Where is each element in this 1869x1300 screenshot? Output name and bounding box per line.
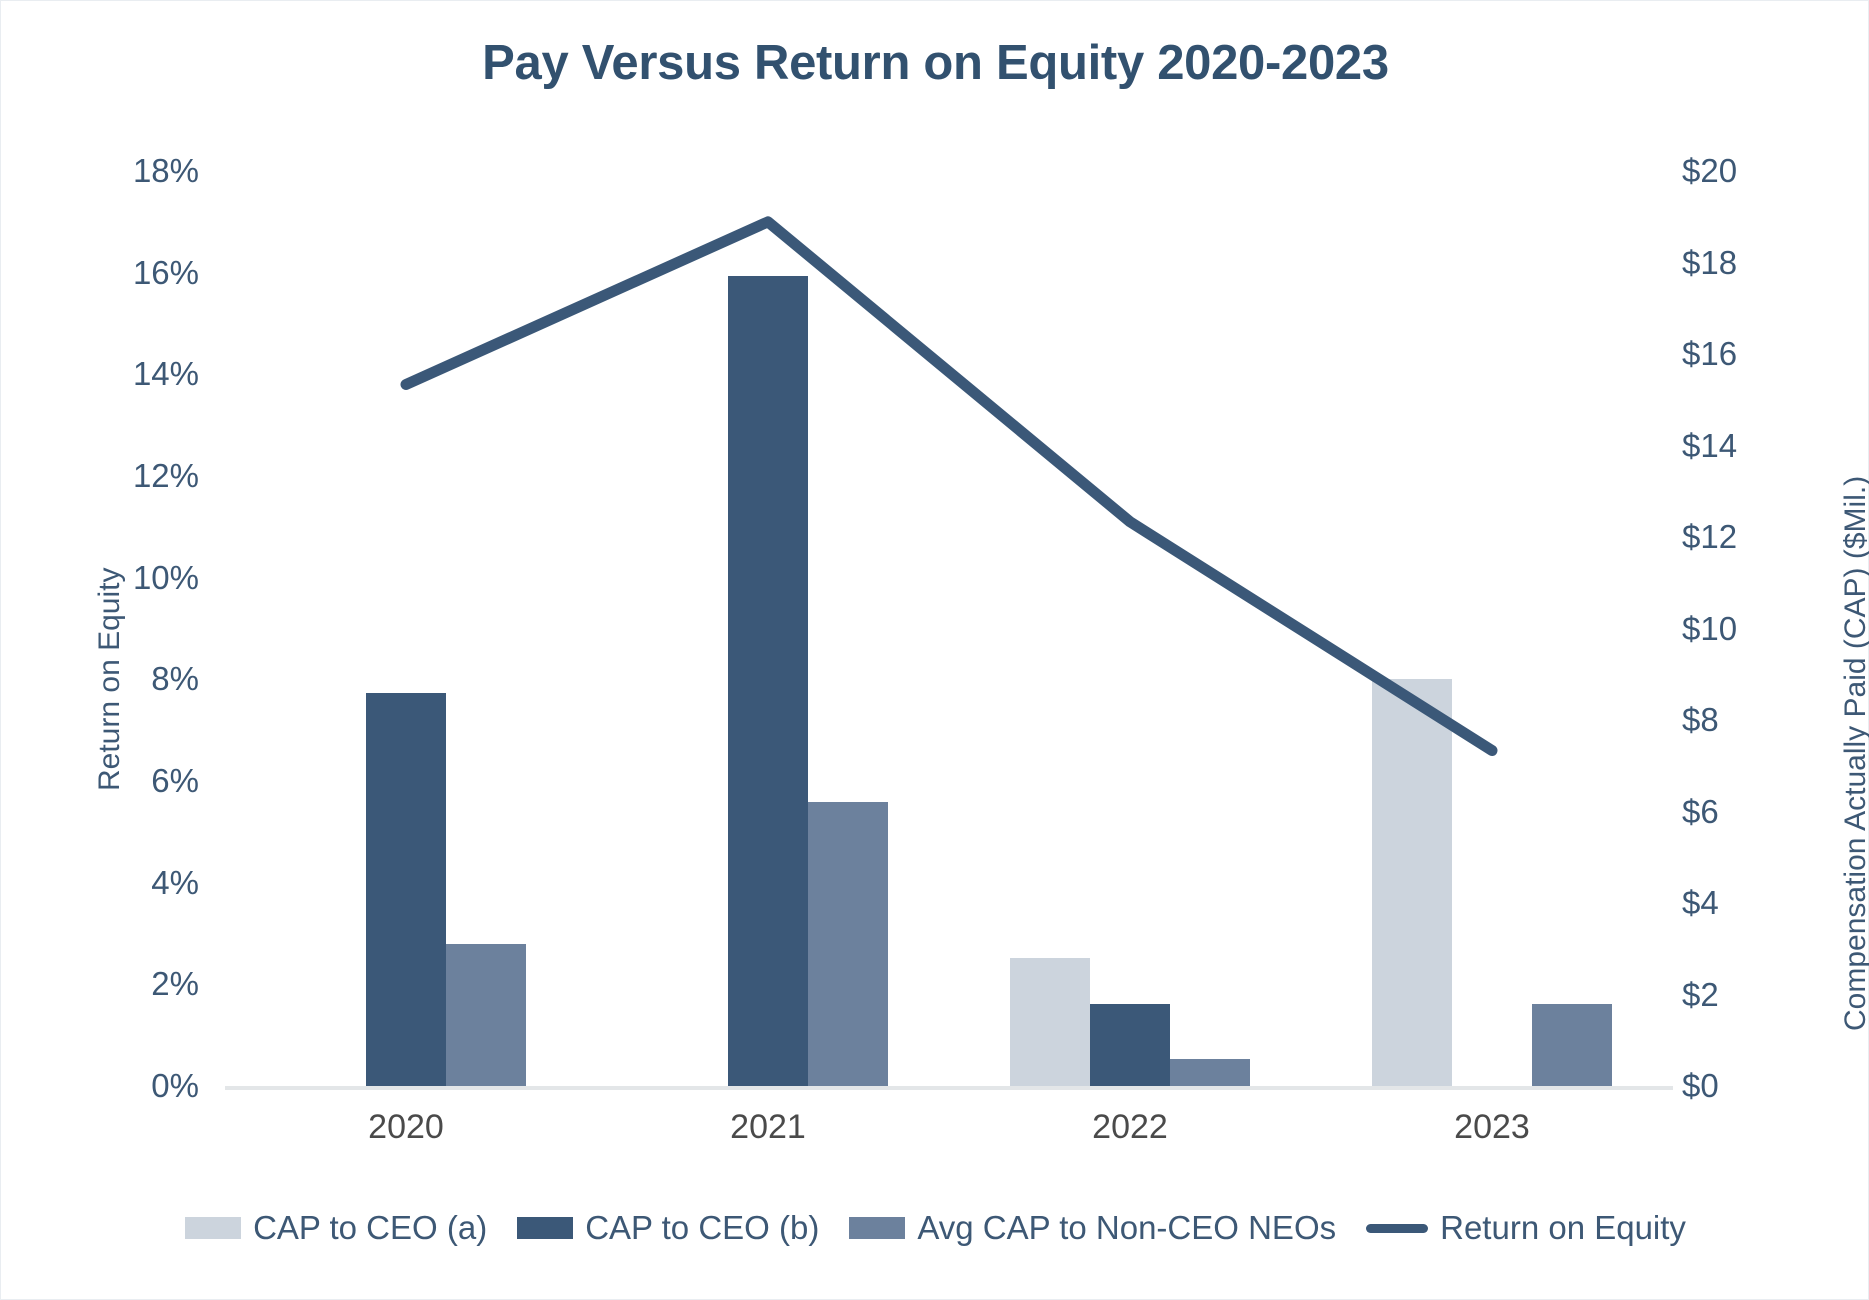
category-label: 2021: [678, 1108, 858, 1147]
legend-label: Avg CAP to Non-CEO NEOs: [917, 1209, 1336, 1247]
plot-area: [225, 151, 1673, 1087]
legend-label: CAP to CEO (b): [585, 1209, 819, 1247]
left-tick-label: 14%: [133, 357, 199, 390]
left-tick-label: 6%: [151, 764, 199, 797]
right-tick-label: $20: [1682, 154, 1737, 187]
legend-color-swatch: [849, 1217, 905, 1239]
left-axis-title: Return on Equity: [93, 568, 127, 791]
legend-item[interactable]: CAP to CEO (a): [185, 1209, 487, 1247]
right-tick-label: $14: [1682, 429, 1737, 462]
legend-label: CAP to CEO (a): [253, 1209, 487, 1247]
left-tick-label: 4%: [151, 866, 199, 899]
left-tick-label: 12%: [133, 459, 199, 492]
right-axis-title: Compensation Actually Paid (CAP) ($Mil.): [1839, 476, 1869, 1031]
category-label: 2020: [316, 1108, 496, 1147]
right-tick-label: $4: [1682, 886, 1719, 919]
right-tick-label: $12: [1682, 520, 1737, 553]
legend-item[interactable]: Return on Equity: [1366, 1209, 1686, 1247]
category-label: 2022: [1040, 1108, 1220, 1147]
right-tick-label: $2: [1682, 978, 1719, 1011]
category-label: 2023: [1402, 1108, 1582, 1147]
legend-line-marker: [1366, 1224, 1428, 1233]
left-tick-label: 10%: [133, 561, 199, 594]
right-tick-label: $16: [1682, 337, 1737, 370]
legend-item[interactable]: CAP to CEO (b): [517, 1209, 819, 1247]
return-on-equity-line: [225, 151, 1673, 1087]
right-tick-label: $18: [1682, 246, 1737, 279]
legend-color-swatch: [185, 1217, 241, 1239]
left-tick-label: 18%: [133, 154, 199, 187]
right-tick-label: $6: [1682, 795, 1719, 828]
chart-container: Pay Versus Return on Equity 2020-2023 Re…: [0, 0, 1869, 1300]
legend-color-swatch: [517, 1217, 573, 1239]
legend-label: Return on Equity: [1440, 1209, 1686, 1247]
left-tick-label: 0%: [151, 1069, 199, 1102]
chart-title: Pay Versus Return on Equity 2020-2023: [1, 35, 1869, 91]
right-tick-label: $0: [1682, 1069, 1719, 1102]
left-tick-label: 2%: [151, 967, 199, 1000]
left-tick-label: 16%: [133, 256, 199, 289]
left-tick-label: 8%: [151, 662, 199, 695]
chart-legend: CAP to CEO (a)CAP to CEO (b)Avg CAP to N…: [1, 1209, 1869, 1247]
right-tick-label: $8: [1682, 703, 1719, 736]
line-path: [406, 222, 1492, 751]
legend-item[interactable]: Avg CAP to Non-CEO NEOs: [849, 1209, 1336, 1247]
right-tick-label: $10: [1682, 612, 1737, 645]
